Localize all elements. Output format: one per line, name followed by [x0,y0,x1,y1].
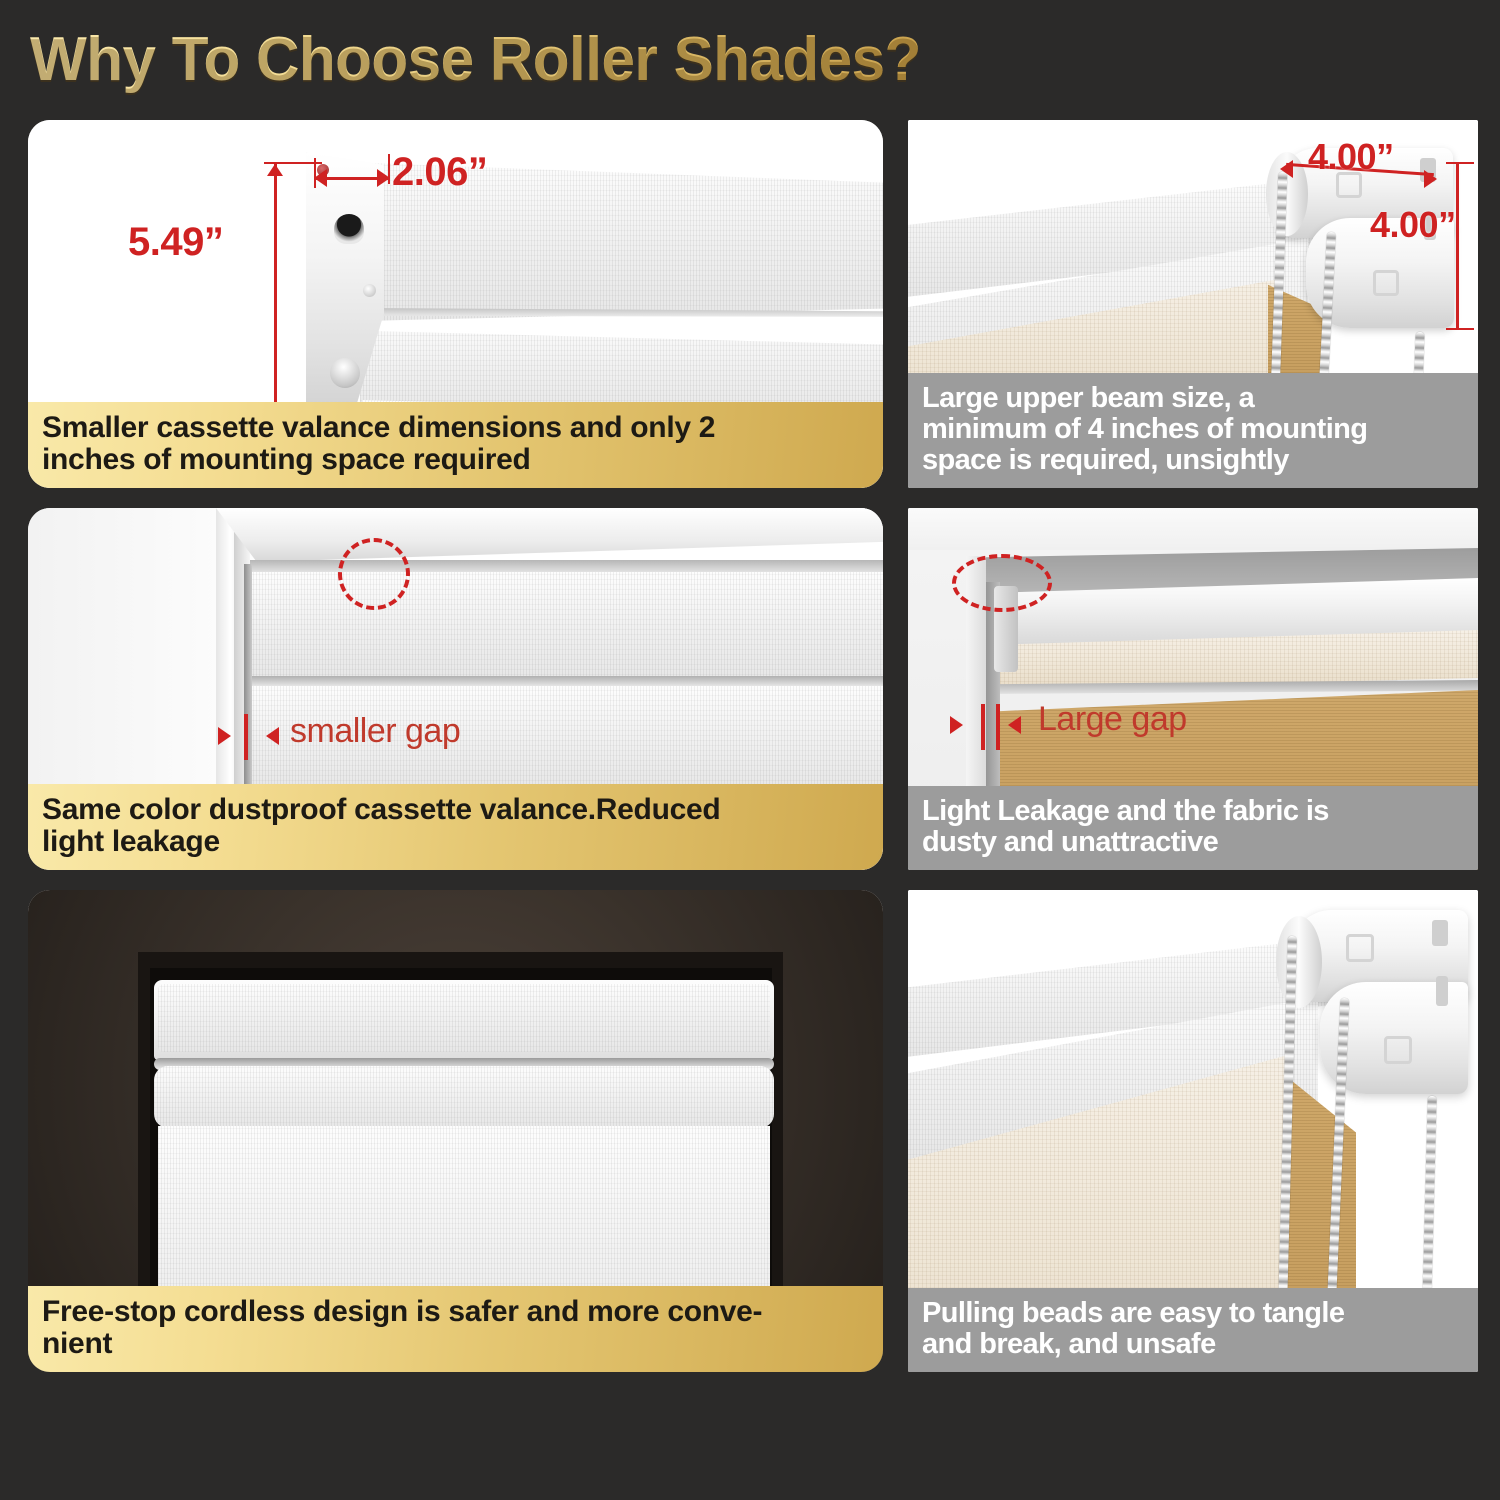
caption-line: minimum of 4 inches of mounting [922,414,1464,445]
page-title: Why To Choose Roller Shades? [30,22,1029,98]
gap-marker-line [244,714,248,760]
width-arrow-left [314,169,327,187]
width-arrow-right [377,169,390,187]
caption-line: Light Leakage and the fabric is [922,796,1464,827]
caption-line: and break, and unsafe [922,1329,1464,1360]
beam-width-arrow-right [1424,170,1437,188]
height-dimension-label: 5.49” [128,220,223,265]
gap-marker-line-a [981,704,985,750]
caption-line: Pulling beads are easy to tangle [922,1298,1464,1329]
caption-con-upper-beam: Large upper beam size, a minimum of 4 in… [908,373,1478,488]
beam-height-dimension-line [1456,162,1459,330]
gap-arrow-right [1008,716,1021,734]
highlight-circle [338,538,410,610]
caption-line: Same color dustproof cassette valance.Re… [42,794,869,826]
beam-height-tick-bottom [1446,328,1474,330]
gap-label-large: Large gap [1038,700,1187,739]
end-cap-slot [334,214,364,244]
highlight-circle [952,554,1052,612]
caption-line: Free-stop cordless design is safer and m… [42,1296,869,1328]
beam-height-tick-top [1446,162,1474,164]
bracket-slot-b [1436,976,1448,1006]
panel-con-upper-beam: 4.00” 4.00” Large upper beam size, a min… [908,120,1478,488]
gap-arrow-left [950,716,963,734]
caption-con-light-leakage: Light Leakage and the fabric is dusty an… [908,786,1478,870]
caption-pro-cordless-design: Free-stop cordless design is safer and m… [28,1286,883,1372]
caption-line: nient [42,1328,869,1360]
panel-pro-cassette-size: 2.06” 5.49” Smaller cassette valance dim… [28,120,883,488]
cassette-fabric-face [158,984,770,1052]
panel-pro-cordless-design: Free-stop cordless design is safer and m… [28,890,883,1372]
caption-line: inches of mounting space required [42,444,869,476]
bracket-emboss-b [1384,1036,1412,1064]
bracket-emboss-a [1346,934,1374,962]
height-dimension-line [274,162,277,420]
caption-pro-smaller-gap: Same color dustproof cassette valance.Re… [28,784,883,870]
cassette-roll [154,1066,774,1128]
panel-con-light-leakage: Large gap Light Leakage and the fabric i… [908,508,1478,870]
caption-pro-cassette-size: Smaller cassette valance dimensions and … [28,402,883,488]
caption-con-pulling-beads: Pulling beads are easy to tangle and bre… [908,1288,1478,1372]
gap-label-smaller: smaller gap [290,712,460,751]
bracket-slot-a [1432,920,1448,946]
gap-arrow-left [218,727,231,745]
caption-line: dusty and unattractive [922,827,1464,858]
beam-height-dimension-label: 4.00” [1370,204,1456,246]
infographic-page: Why To Choose Roller Shades? [0,0,1500,1500]
roller-end-disc [1276,916,1322,1008]
caption-line: space is required, unsightly [922,445,1464,476]
height-arrow-up [267,164,283,176]
caption-line: Large upper beam size, a [922,383,1464,414]
beam-width-arrow-left [1280,160,1293,178]
caption-line: Smaller cassette valance dimensions and … [42,412,869,444]
gap-marker-line-b [996,704,1000,750]
panel-con-pulling-beads: Pulling beads are easy to tangle and bre… [908,890,1478,1372]
beam-width-dimension-label: 4.00” [1308,136,1394,178]
panel-pro-smaller-gap: smaller gap Same color dustproof cassett… [28,508,883,870]
bracket-emboss-b [1373,270,1399,296]
gap-arrow-right [266,727,279,745]
end-cap-screw-upper [363,284,376,297]
end-cap-screw-lower [330,358,360,388]
width-dimension-label: 2.06” [392,150,487,195]
caption-line: light leakage [42,826,869,858]
